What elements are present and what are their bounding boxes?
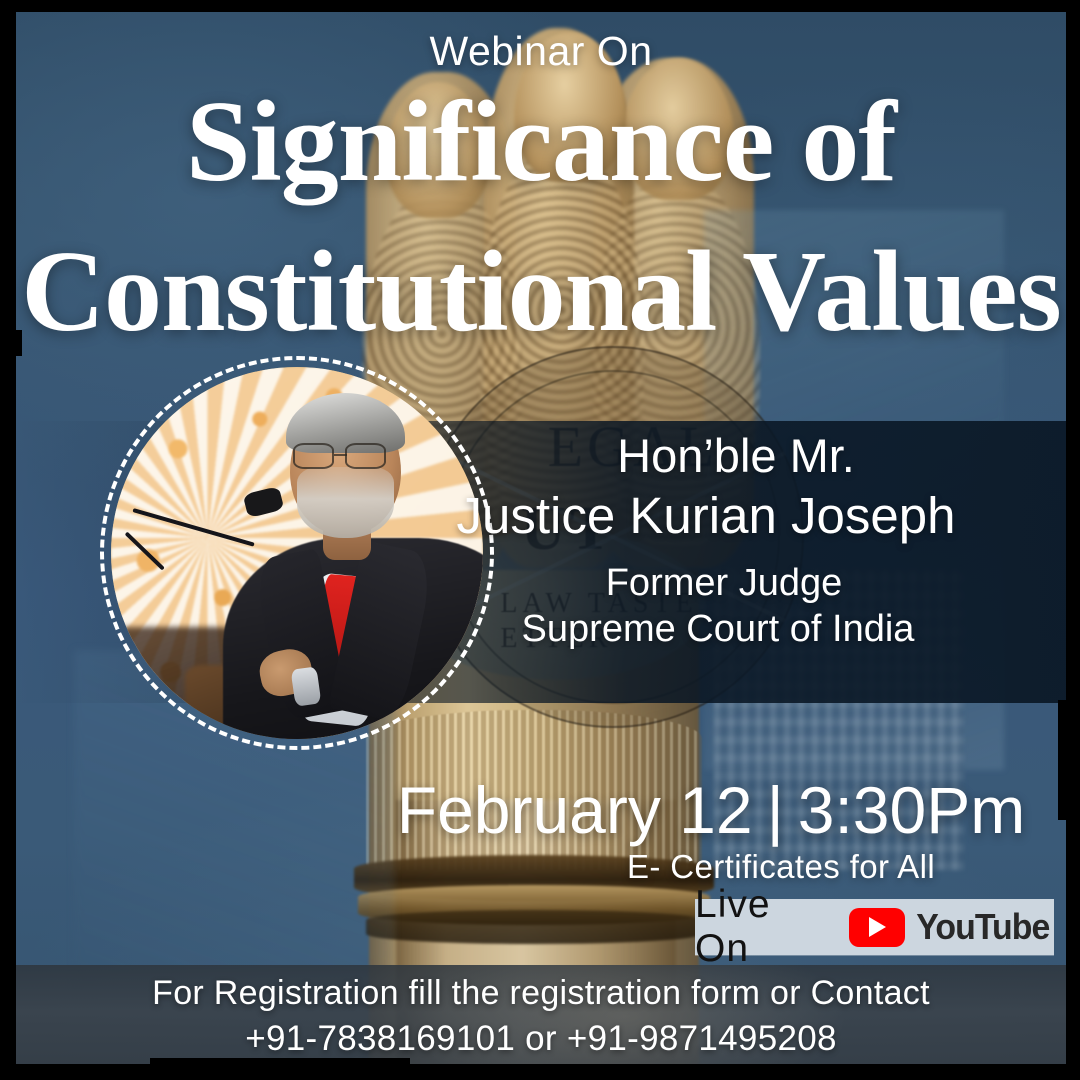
live-on-label: Live On <box>695 883 833 971</box>
schedule-separator: | <box>753 773 798 847</box>
live-on-youtube-bar[interactable]: Live On YouTube <box>695 899 1054 955</box>
speaker-role: Former Judge <box>380 560 1068 606</box>
speaker-honorific: Hon’ble Mr. <box>404 428 1068 483</box>
youtube-wordmark: YouTube <box>917 906 1050 948</box>
frame-notch-bottom <box>150 1058 410 1072</box>
schedule-date: February 12 <box>397 773 753 847</box>
schedule-line: February 12|3:30Pm <box>354 772 1068 848</box>
frame-left <box>0 0 16 1080</box>
youtube-logo[interactable]: YouTube <box>849 906 1054 948</box>
speaker-details: Hon’ble Mr. Justice Kurian Joseph Former… <box>344 428 1068 652</box>
frame-notch-left <box>10 330 22 356</box>
kicker-webinar-on: Webinar On <box>14 28 1068 75</box>
footer-line-2: +91-7838169101 or +91-9871495208 <box>245 1019 837 1059</box>
frame-right <box>1066 0 1080 1080</box>
youtube-play-icon <box>849 908 905 947</box>
footer-line-1: For Registration fill the registration f… <box>152 974 930 1013</box>
poster-canvas: EGAL UT LAW TASTE ETTER Webinar On Signi… <box>14 10 1068 1068</box>
schedule-time: 3:30Pm <box>798 773 1025 847</box>
frame-top <box>0 0 1080 12</box>
photo-wristwatch <box>291 667 322 707</box>
certificate-note: E- Certificates for All <box>494 848 1068 886</box>
photo-eyeglass-left <box>293 443 334 469</box>
pillar-ring-lower <box>366 910 702 944</box>
webinar-poster: EGAL UT LAW TASTE ETTER Webinar On Signi… <box>0 0 1080 1080</box>
speaker-organisation: Supreme Court of India <box>368 606 1068 652</box>
registration-footer: For Registration fill the registration f… <box>14 965 1068 1068</box>
page-title-line-2: Constitutional Values <box>14 238 1068 347</box>
speaker-name: Justice Kurian Joseph <box>344 483 1068 549</box>
page-title-line-1: Significance of <box>14 88 1068 197</box>
frame-notch-right <box>1058 700 1072 820</box>
